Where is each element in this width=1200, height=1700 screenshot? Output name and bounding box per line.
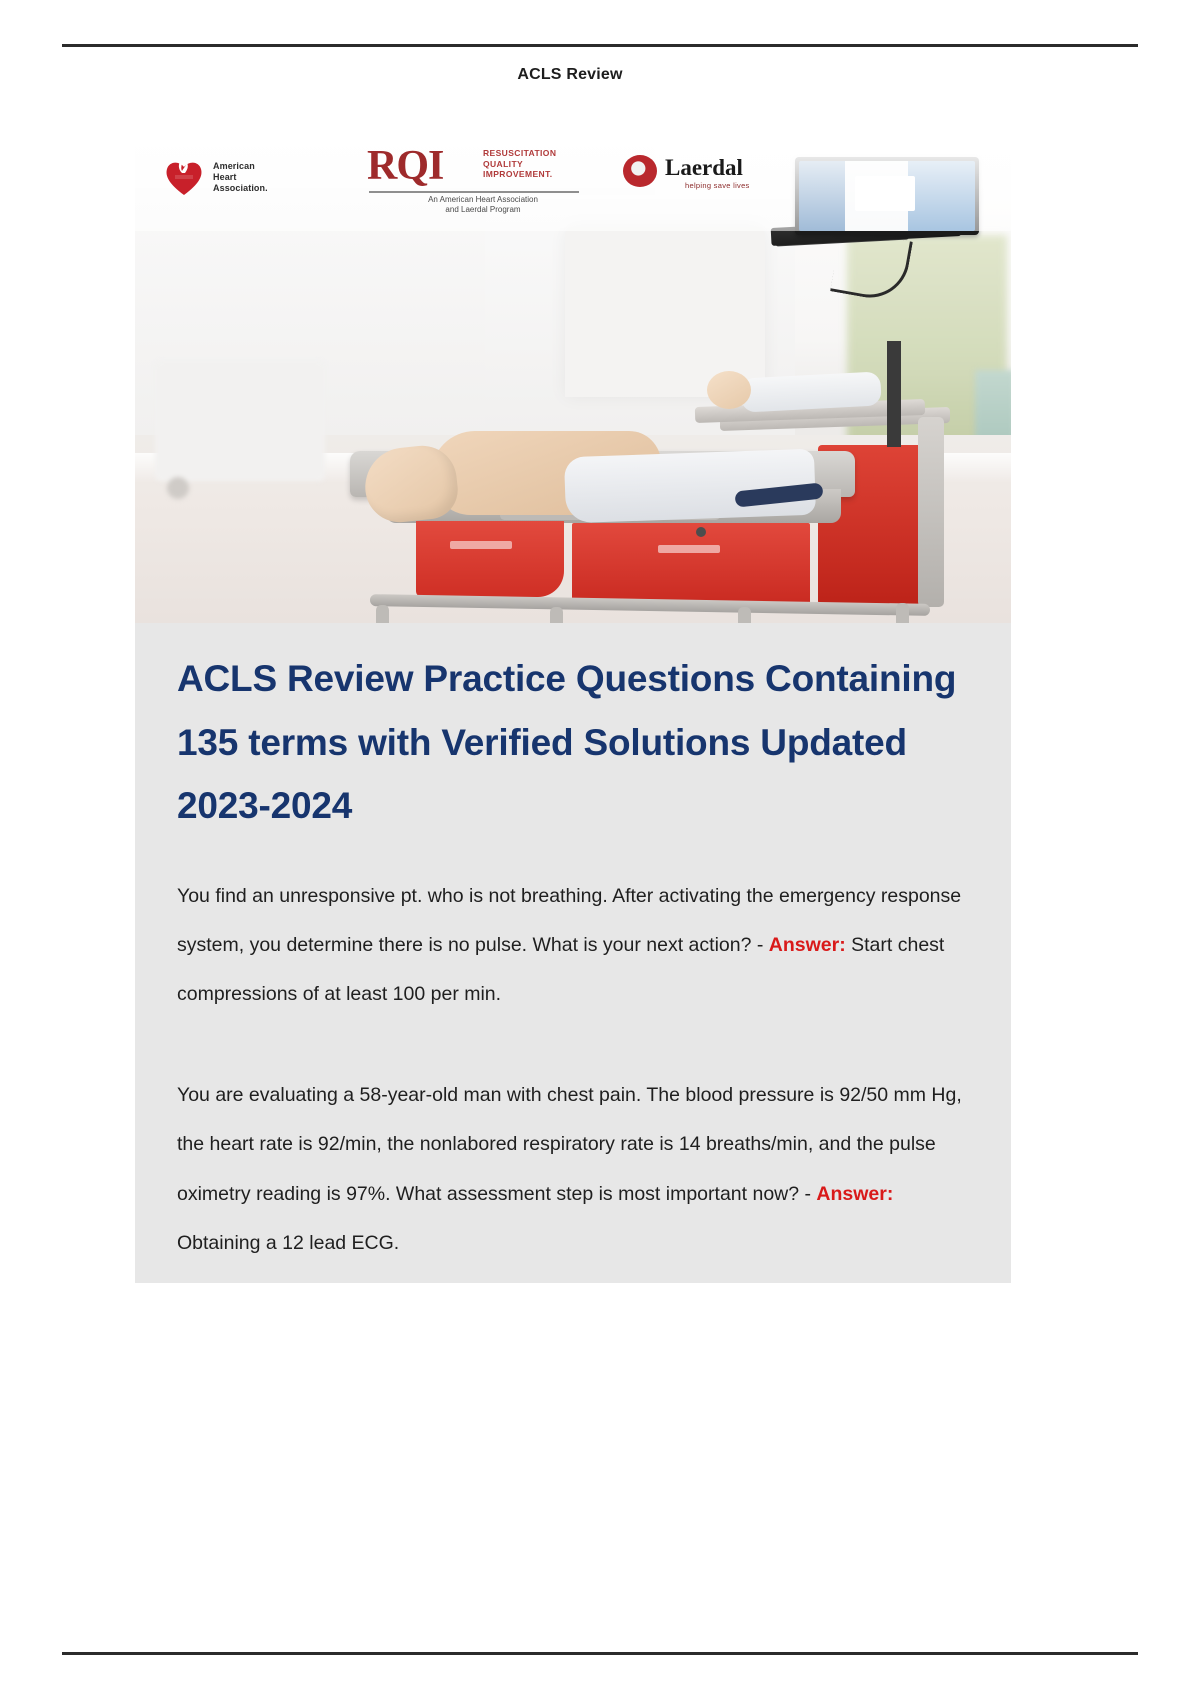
rqi-subtitle: An American Heart Association and Laerda… <box>383 195 583 215</box>
laerdal-logo: Laerdal helping save lives <box>623 153 823 209</box>
laerdal-tagline: helping save lives <box>685 181 750 190</box>
footer-rule <box>62 1652 1138 1655</box>
document-page: ACLS Review <box>0 0 1200 1700</box>
cart-leg <box>896 603 909 623</box>
cart-leg <box>738 607 751 623</box>
american-heart-association-logo: American Heart Association. <box>163 153 323 209</box>
cart-side-column <box>918 417 944 607</box>
infant-manikin-head <box>707 371 751 409</box>
qa-answer-2: Obtaining a 12 lead ECG. <box>177 1232 399 1254</box>
qa-answer-label-2: Answer: <box>816 1183 893 1205</box>
monitor-arm-post <box>887 341 901 447</box>
qa-item-2: You are evaluating a 58-year-old man wit… <box>177 1071 969 1268</box>
cart-drawer-knob <box>696 527 706 537</box>
paragraph-spacer <box>177 1019 969 1071</box>
rqi-divider <box>369 191 579 193</box>
laerdal-wordmark: Laerdal <box>665 155 743 180</box>
cart-red-drawer-left <box>416 521 564 597</box>
cart-leg <box>550 607 563 623</box>
document-content-card: American Heart Association. RQI RESUSCIT… <box>135 135 1011 1283</box>
running-head: ACLS Review <box>0 66 1140 84</box>
laerdal-globe-icon <box>623 155 657 187</box>
cart-red-drawer-center <box>572 523 810 605</box>
qa-item-1: You find an unresponsive pt. who is not … <box>177 872 969 1019</box>
page-title: ACLS Review Practice Questions Containin… <box>177 647 969 838</box>
photo-background-cart <box>155 361 325 481</box>
rqi-cpr-training-cart-photo: American Heart Association. RQI RESUSCIT… <box>135 135 1011 623</box>
rqi-letters: RQI <box>367 145 443 187</box>
cart-leg <box>376 605 389 623</box>
document-text-body: ACLS Review Practice Questions Containin… <box>135 623 1011 1283</box>
photo-logo-band: American Heart Association. RQI RESUSCIT… <box>135 135 1011 231</box>
header-rule <box>62 44 1138 47</box>
aha-wordmark: American Heart Association. <box>213 161 268 194</box>
rqi-logo: RQI RESUSCITATION QUALITY IMPROVEMENT. A… <box>367 145 597 221</box>
qa-answer-label-1: Answer: <box>769 934 846 956</box>
rqi-expansion: RESUSCITATION QUALITY IMPROVEMENT. <box>483 148 556 180</box>
heart-torch-icon <box>163 157 205 197</box>
